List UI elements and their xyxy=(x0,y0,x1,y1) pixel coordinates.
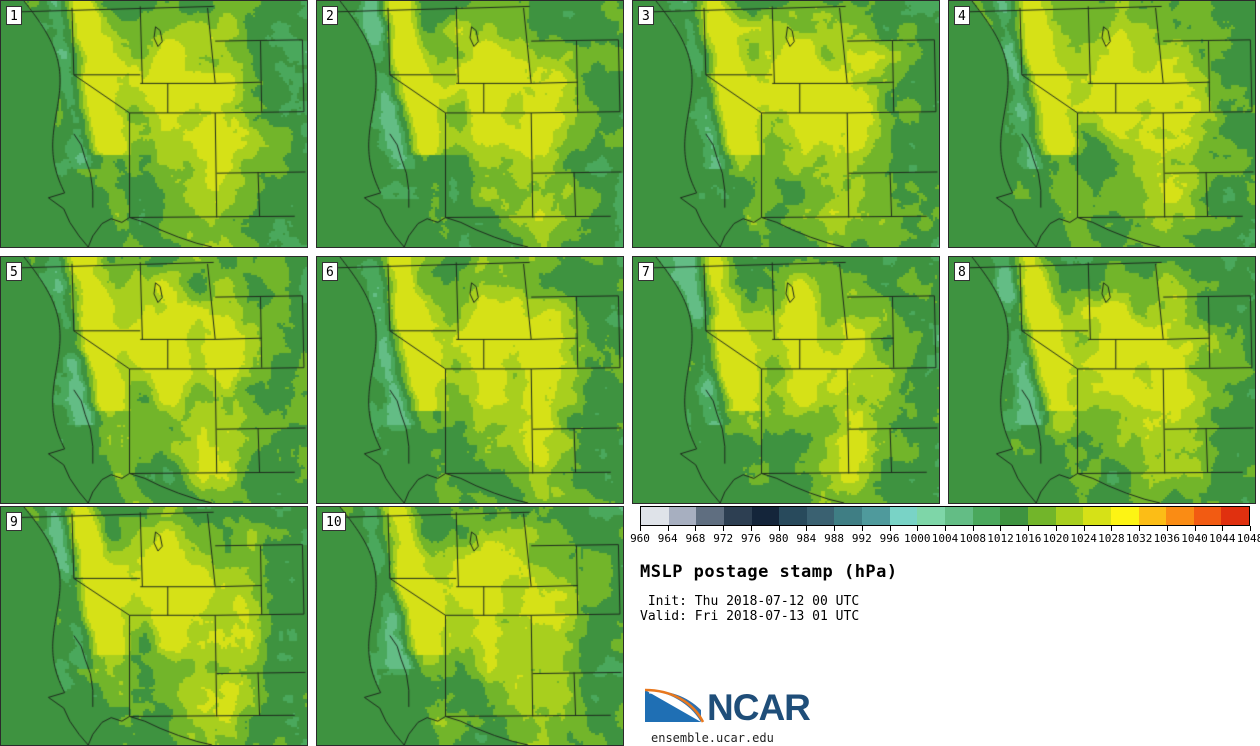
colorbar-tick xyxy=(723,526,724,531)
colorbar-tick xyxy=(1139,526,1140,531)
colorbar-tick xyxy=(973,526,974,531)
panel-number-label: 1 xyxy=(6,6,22,25)
map-panel-member-1[interactable]: 1 xyxy=(0,0,308,248)
colorbar-swatch xyxy=(917,507,945,525)
colorbar-swatch xyxy=(1221,507,1249,525)
colorbar-tick-label: 1040 xyxy=(1181,532,1208,546)
mslp-field-canvas xyxy=(317,257,623,503)
mslp-field-canvas xyxy=(1,1,307,247)
map-panel-member-10[interactable]: 10 xyxy=(316,506,624,746)
colorbar-swatch xyxy=(973,507,1001,525)
ncar-logo-block: NCAR ensemble.ucar.edu xyxy=(643,684,863,745)
colorbar-tick xyxy=(806,526,807,531)
colorbar-tick xyxy=(862,526,863,531)
panel-number-label: 3 xyxy=(638,6,654,25)
colorbar-tick xyxy=(945,526,946,531)
colorbar-tick-label: 1044 xyxy=(1209,532,1236,546)
colorbar-swatch xyxy=(779,507,807,525)
colorbar-tick xyxy=(890,526,891,531)
figure-info-block: MSLP postage stamp (hPa) Init: Thu 2018-… xyxy=(640,562,1240,624)
mslp-field-canvas xyxy=(317,1,623,247)
colorbar: 9609649689729769809849889929961000100410… xyxy=(640,506,1250,546)
colorbar-tick-label: 984 xyxy=(796,532,816,546)
map-panel-member-7[interactable]: 7 xyxy=(632,256,940,504)
colorbar-tick-label: 976 xyxy=(741,532,761,546)
colorbar-tick xyxy=(1111,526,1112,531)
colorbar-tick-label: 960 xyxy=(630,532,650,546)
colorbar-tick xyxy=(1167,526,1168,531)
colorbar-tick-label: 964 xyxy=(658,532,678,546)
colorbar-swatch xyxy=(641,507,669,525)
mslp-field-canvas xyxy=(949,1,1255,247)
map-panel-member-8[interactable]: 8 xyxy=(948,256,1256,504)
colorbar-tick-labels: 9609649689729769809849889929961000100410… xyxy=(640,532,1250,546)
colorbar-tick xyxy=(1056,526,1057,531)
colorbar-tick-label: 1020 xyxy=(1043,532,1070,546)
valid-time-line: Valid: Fri 2018-07-13 01 UTC xyxy=(640,609,1240,624)
mslp-field-canvas xyxy=(317,507,623,745)
colorbar-swatch xyxy=(1139,507,1167,525)
colorbar-swatch xyxy=(890,507,918,525)
mslp-field-canvas xyxy=(1,507,307,745)
colorbar-swatch xyxy=(1194,507,1222,525)
mslp-field-canvas xyxy=(949,257,1255,503)
colorbar-tick-label: 1012 xyxy=(987,532,1014,546)
map-panel-member-4[interactable]: 4 xyxy=(948,0,1256,248)
colorbar-swatch xyxy=(1000,507,1028,525)
colorbar-swatch xyxy=(669,507,697,525)
colorbar-tick xyxy=(1195,526,1196,531)
panel-number-label: 5 xyxy=(6,262,22,281)
colorbar-tick-label: 1036 xyxy=(1154,532,1181,546)
figure-title: MSLP postage stamp (hPa) xyxy=(640,562,1240,582)
colorbar-tick-label: 980 xyxy=(769,532,789,546)
colorbar-swatch xyxy=(945,507,973,525)
mslp-field-canvas xyxy=(633,257,939,503)
colorbar-swatch xyxy=(1028,507,1056,525)
colorbar-swatch xyxy=(862,507,890,525)
colorbar-tick-label: 996 xyxy=(880,532,900,546)
ensemble-url-label: ensemble.ucar.edu xyxy=(651,731,863,745)
colorbar-swatch xyxy=(1083,507,1111,525)
colorbar-strip xyxy=(640,506,1250,526)
colorbar-tick-label: 988 xyxy=(824,532,844,546)
colorbar-tick xyxy=(1222,526,1223,531)
colorbar-tick-label: 1048 xyxy=(1237,532,1260,546)
colorbar-tick xyxy=(779,526,780,531)
init-time-line: Init: Thu 2018-07-12 00 UTC xyxy=(640,594,1240,609)
colorbar-tick-label: 992 xyxy=(852,532,872,546)
panel-number-label: 7 xyxy=(638,262,654,281)
map-panel-member-3[interactable]: 3 xyxy=(632,0,940,248)
colorbar-swatch xyxy=(1111,507,1139,525)
colorbar-tick-label: 1032 xyxy=(1126,532,1153,546)
colorbar-swatch xyxy=(807,507,835,525)
colorbar-swatch xyxy=(1166,507,1194,525)
colorbar-tick-label: 1016 xyxy=(1015,532,1042,546)
map-panel-member-9[interactable]: 9 xyxy=(0,506,308,746)
colorbar-tick-label: 972 xyxy=(713,532,733,546)
colorbar-tick xyxy=(1250,526,1251,531)
colorbar-swatch xyxy=(834,507,862,525)
mslp-field-canvas xyxy=(633,1,939,247)
panel-number-label: 10 xyxy=(322,512,346,531)
colorbar-tick xyxy=(1084,526,1085,531)
colorbar-tick-label: 1024 xyxy=(1070,532,1097,546)
colorbar-swatch xyxy=(1056,507,1084,525)
map-panel-member-2[interactable]: 2 xyxy=(316,0,624,248)
colorbar-swatch xyxy=(752,507,780,525)
map-panel-member-6[interactable]: 6 xyxy=(316,256,624,504)
colorbar-tick-label: 1000 xyxy=(904,532,931,546)
colorbar-tick-label: 968 xyxy=(686,532,706,546)
panel-number-label: 8 xyxy=(954,262,970,281)
panel-number-label: 6 xyxy=(322,262,338,281)
colorbar-tick xyxy=(917,526,918,531)
colorbar-tick xyxy=(695,526,696,531)
colorbar-tick xyxy=(1000,526,1001,531)
ncar-wordmark: NCAR xyxy=(707,689,810,726)
colorbar-swatch xyxy=(724,507,752,525)
colorbar-swatch xyxy=(696,507,724,525)
panel-number-label: 9 xyxy=(6,512,22,531)
panel-number-label: 4 xyxy=(954,6,970,25)
mslp-field-canvas xyxy=(1,257,307,503)
colorbar-tick xyxy=(668,526,669,531)
colorbar-tick xyxy=(751,526,752,531)
colorbar-tick xyxy=(640,526,641,531)
postage-stamp-panel-grid: 12345678910 xyxy=(0,0,1260,746)
colorbar-tick-label: 1004 xyxy=(932,532,959,546)
map-panel-member-5[interactable]: 5 xyxy=(0,256,308,504)
panel-number-label: 2 xyxy=(322,6,338,25)
colorbar-tick-label: 1008 xyxy=(959,532,986,546)
ncar-swoosh-icon xyxy=(643,682,705,732)
colorbar-tick xyxy=(1028,526,1029,531)
colorbar-tick xyxy=(834,526,835,531)
colorbar-tick-label: 1028 xyxy=(1098,532,1125,546)
